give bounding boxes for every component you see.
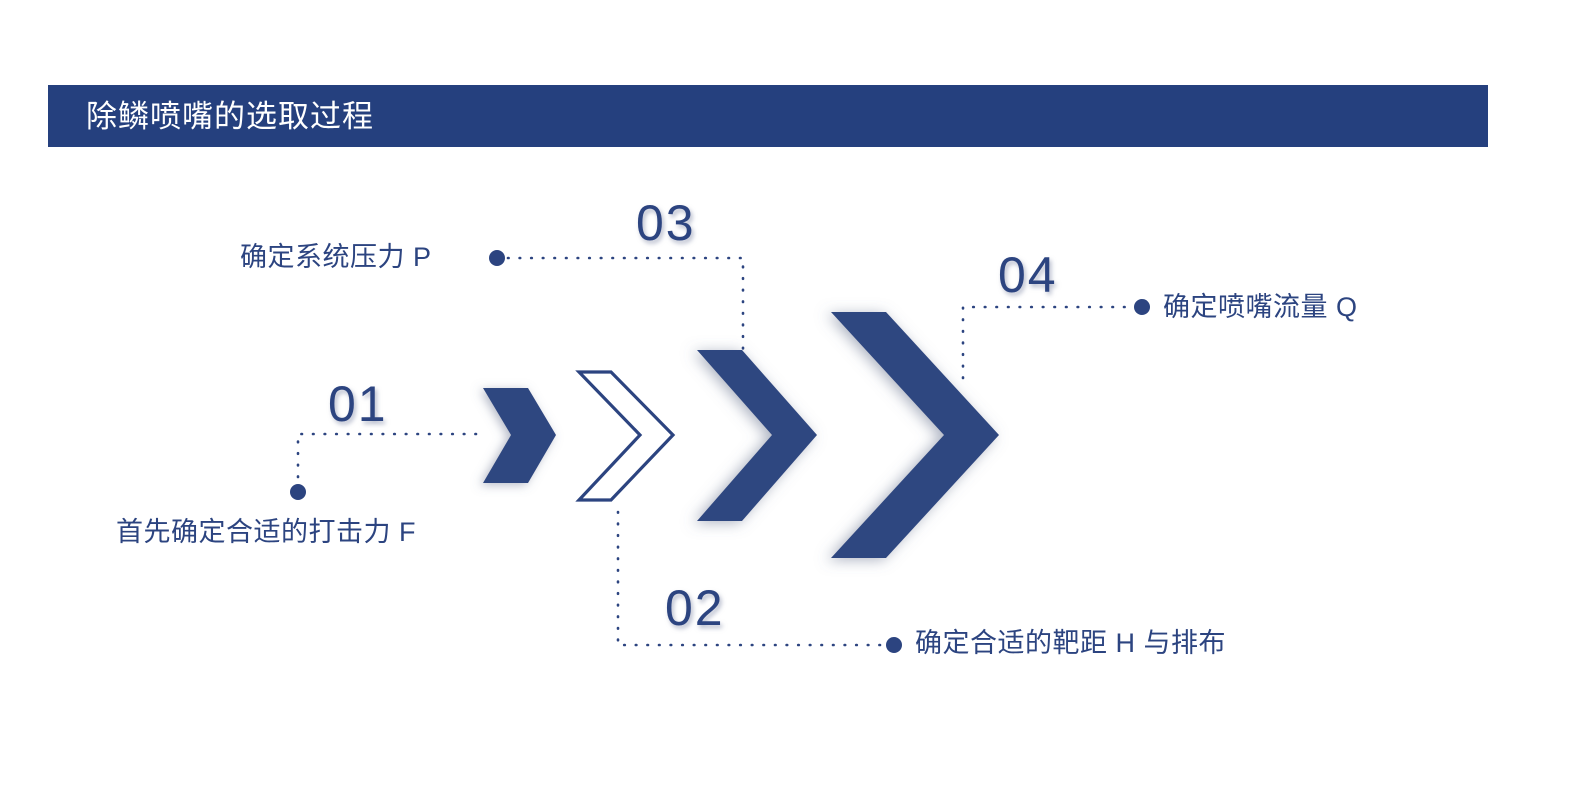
connector-line-01 — [298, 434, 476, 484]
step-caption-02: 确定合适的靶距 H 与排布 — [915, 630, 1226, 657]
connector-line-02 — [618, 512, 884, 645]
connector-dot-04 — [1134, 299, 1150, 315]
step-caption-01: 首先确定合适的打击力 F — [116, 519, 416, 546]
step-number-03: 03 — [636, 198, 696, 248]
slide-canvas: 除鳞喷嘴的选取过程 — [0, 0, 1575, 807]
connector-dot-02 — [886, 637, 902, 653]
step-number-01: 01 — [328, 379, 388, 429]
step-number-02: 02 — [665, 583, 725, 633]
connector-line-04 — [963, 307, 1131, 378]
connector-lines-group — [0, 0, 1575, 807]
step-caption-04: 确定喷嘴流量 Q — [1163, 294, 1358, 321]
step-number-04: 04 — [998, 250, 1058, 300]
connector-line-03 — [508, 258, 743, 352]
connector-dot-01 — [290, 484, 306, 500]
connector-dot-03 — [489, 250, 505, 266]
step-caption-03: 确定系统压力 P — [240, 244, 432, 271]
